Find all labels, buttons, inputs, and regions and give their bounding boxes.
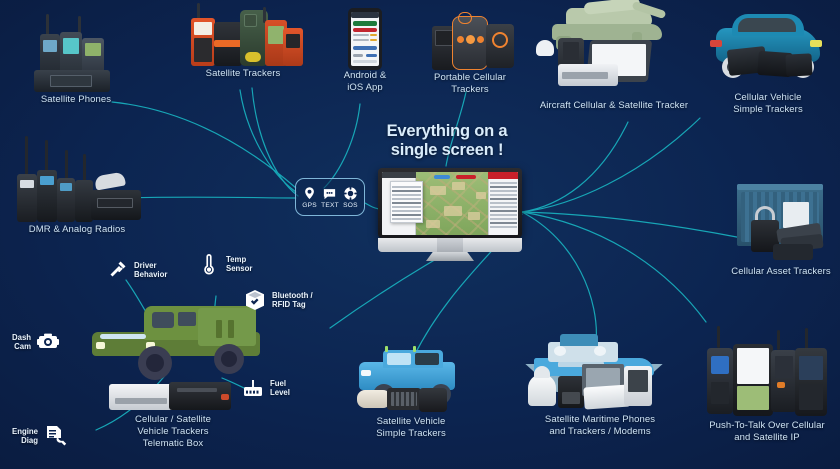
sensor-label: Driver Behavior: [134, 261, 167, 280]
node-satellite-maritime[interactable]: Satellite Maritime Phones and Trackers /…: [506, 336, 694, 438]
node-label: Cellular Asset Trackers: [722, 266, 840, 278]
satellite-trackers-art: [183, 4, 303, 68]
sensor-label: Temp Sensor: [226, 255, 252, 274]
sos-lifering-icon: [343, 186, 358, 201]
node-label: Cellular / Satellite Vehicle Trackers Te…: [96, 414, 250, 450]
cellular-asset-art: [727, 180, 835, 266]
node-label: Push-To-Talk Over Cellular and Satellite…: [694, 420, 840, 444]
cellular-vehicle-art: [706, 8, 830, 92]
sensor-fuel-level[interactable]: Fuel Level: [240, 376, 290, 400]
node-label: Satellite Vehicle Simple Trackers: [344, 416, 478, 440]
telematic-box-art: [107, 380, 239, 414]
node-satellite-vehicle-simple-trackers[interactable]: Satellite Vehicle Simple Trackers: [344, 348, 478, 440]
service-badge[interactable]: GPS TEXT SOS: [295, 178, 365, 216]
badge-label-sos: SOS: [343, 202, 358, 209]
sensor-driver-behavior[interactable]: Driver Behavior: [104, 258, 167, 282]
node-portable-cellular-trackers[interactable]: Portable Cellular Trackers: [414, 10, 526, 96]
badge-label-gps: GPS: [302, 202, 317, 209]
badge-item-sos[interactable]: SOS: [343, 186, 358, 209]
dashcam-icon: [35, 330, 61, 354]
satellite-phones-art: [26, 14, 126, 94]
sensor-label: Engine Diag: [12, 427, 38, 446]
node-dmr-analog-radios[interactable]: DMR & Analog Radios: [8, 136, 146, 236]
right-panel: [488, 172, 518, 235]
badge-item-gps[interactable]: GPS: [302, 186, 317, 209]
engine-wrench-icon: [42, 424, 68, 448]
maritime-art: [516, 336, 684, 414]
node-cellular-asset-trackers[interactable]: Cellular Asset Trackers: [722, 180, 840, 278]
node-label: Satellite Maritime Phones and Trackers /…: [506, 414, 694, 438]
headline-line-2: single screen !: [372, 141, 522, 160]
sensor-dash-cam[interactable]: Dash Cam: [12, 330, 61, 354]
fuel-gauge-icon: [240, 376, 266, 400]
aircraft-tracker-art: [536, 4, 692, 100]
chat-bubble-icon: [322, 186, 337, 201]
monitor-neck: [437, 238, 463, 252]
push-to-talk-art: [699, 326, 835, 420]
parcel-box-icon: [242, 288, 268, 312]
node-satellite-trackers[interactable]: Satellite Trackers: [178, 4, 308, 80]
sensor-label: Fuel Level: [270, 379, 290, 398]
badge-label-text: TEXT: [321, 202, 339, 209]
monitor-screen[interactable]: [382, 172, 518, 235]
steering-driver-icon: [104, 258, 130, 282]
left-panel-toolbar: [382, 172, 416, 178]
badge-item-text[interactable]: TEXT: [321, 186, 339, 209]
desktop-monitor[interactable]: : [378, 168, 522, 264]
floating-window: [390, 181, 423, 223]
node-aircraft-tracker[interactable]: Aircraft Cellular & Satellite Tracker: [526, 4, 702, 112]
page-title: Everything on a single screen !: [372, 122, 522, 160]
node-label: Portable Cellular Trackers: [414, 72, 526, 96]
sensor-engine-diag[interactable]: Engine Diag: [12, 424, 68, 448]
sensor-temp[interactable]: Temp Sensor: [196, 252, 252, 276]
satellite-vehicle-art: [351, 348, 471, 416]
infographic-canvas: Everything on a single screen !: [0, 0, 840, 469]
dmr-radios-art: [13, 136, 141, 224]
node-label: Satellite Phones: [16, 94, 136, 106]
node-push-to-talk[interactable]: Push-To-Talk Over Cellular and Satellite…: [694, 326, 840, 444]
monitor-stand: [426, 252, 474, 261]
node-cellular-vehicle-simple-trackers[interactable]: Cellular Vehicle Simple Trackers: [700, 8, 836, 116]
monitor-bezel: [378, 168, 522, 238]
node-android-ios-app[interactable]: Android & iOS App: [322, 8, 408, 94]
node-satellite-phones[interactable]: Satellite Phones: [16, 14, 136, 106]
right-panel-header: [488, 172, 518, 179]
portable-cellular-art: [422, 10, 518, 72]
gps-pin-icon: [302, 186, 317, 201]
smartphone-art: [348, 8, 382, 70]
node-label: Android & iOS App: [322, 70, 408, 94]
sensor-label: Bluetooth / RFID Tag: [272, 291, 313, 310]
node-label: DMR & Analog Radios: [8, 224, 146, 236]
headline-line-1: Everything on a: [372, 122, 522, 141]
thermometer-icon: [196, 252, 222, 276]
node-label: Aircraft Cellular & Satellite Tracker: [526, 100, 702, 112]
node-vehicle-telematic-box[interactable]: Cellular / Satellite Vehicle Trackers Te…: [96, 380, 250, 450]
node-label: Cellular Vehicle Simple Trackers: [700, 92, 836, 116]
sensor-bluetooth-rfid[interactable]: Bluetooth / RFID Tag: [242, 288, 313, 312]
sensor-label: Dash Cam: [12, 333, 31, 352]
node-label: Satellite Trackers: [178, 68, 308, 80]
